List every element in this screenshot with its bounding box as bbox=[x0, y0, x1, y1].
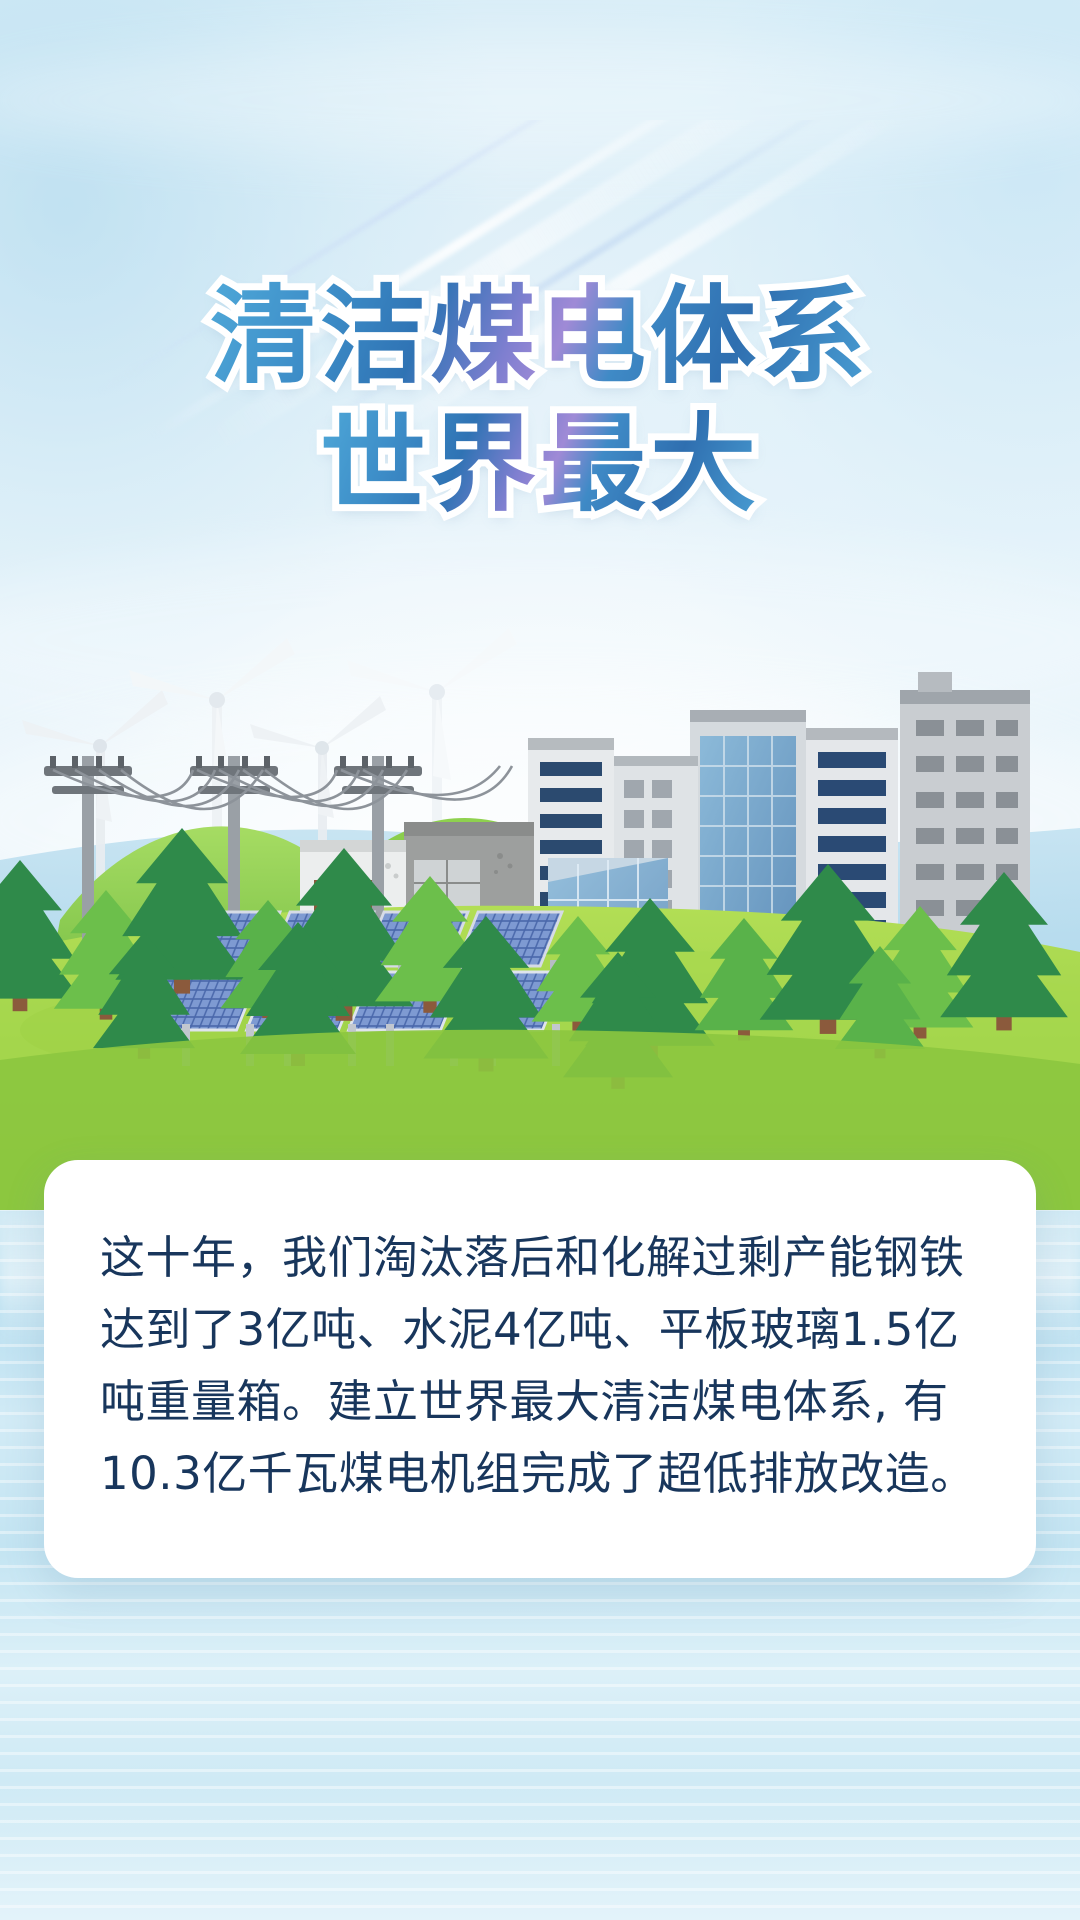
title-line-2-fill: 世界最大 bbox=[320, 403, 760, 526]
title-line-1-fill: 清洁煤电体系 bbox=[210, 275, 870, 398]
body-text-card: 这十年，我们淘汰落后和化解过剩产能钢铁达到了3亿吨、水泥4亿吨、平板玻璃1.5亿… bbox=[44, 1160, 1036, 1578]
poster-title: 清洁煤电体系 清洁煤电体系 世界最大 世界最大 bbox=[0, 278, 1080, 524]
poster: 清洁煤电体系 清洁煤电体系 世界最大 世界最大 bbox=[0, 0, 1080, 1920]
body-paragraph: 这十年，我们淘汰落后和化解过剩产能钢铁达到了3亿吨、水泥4亿吨、平板玻璃1.5亿… bbox=[100, 1222, 980, 1510]
title-line-1: 清洁煤电体系 清洁煤电体系 bbox=[0, 278, 1080, 396]
title-line-2: 世界最大 世界最大 bbox=[0, 406, 1080, 524]
scene-illustration bbox=[0, 560, 1080, 1210]
